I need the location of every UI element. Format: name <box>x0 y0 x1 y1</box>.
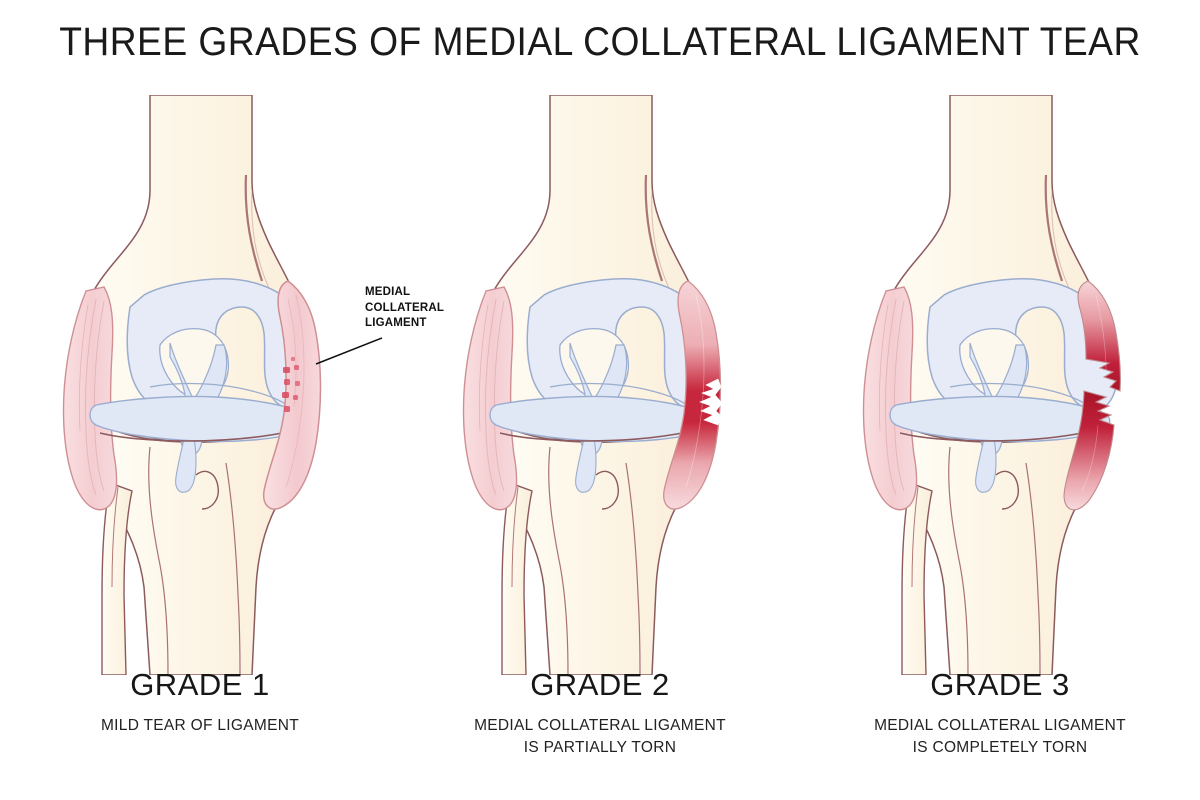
panel-grade-2: GRADE 2 MEDIAL COLLATERAL LIGAMENT IS PA… <box>400 95 800 695</box>
lateral-collateral-ligament <box>864 287 917 510</box>
fibula <box>902 483 932 675</box>
lateral-collateral-ligament <box>64 287 117 510</box>
grade-description-line: MEDIAL COLLATERAL LIGAMENT <box>800 715 1200 737</box>
callout-leader-line <box>310 330 390 375</box>
fibula <box>502 483 532 675</box>
poster-canvas: THREE GRADES OF MEDIAL COLLATERAL LIGAME… <box>0 0 1200 800</box>
grade-description-2: MEDIAL COLLATERAL LIGAMENT IS PARTIALLY … <box>400 715 800 760</box>
grade-description-line: IS COMPLETELY TORN <box>800 737 1200 759</box>
grade-description-line: MEDIAL COLLATERAL LIGAMENT <box>400 715 800 737</box>
knee-illustration-grade-1 <box>0 95 400 675</box>
grade-description-line: IS PARTIALLY TORN <box>400 737 800 759</box>
tibia <box>903 425 1094 675</box>
grade-description-3: MEDIAL COLLATERAL LIGAMENT IS COMPLETELY… <box>800 715 1200 760</box>
panel-grade-3: GRADE 3 MEDIAL COLLATERAL LIGAMENT IS CO… <box>800 95 1200 695</box>
grade-description-line: MILD TEAR OF LIGAMENT <box>0 715 400 737</box>
page-title: THREE GRADES OF MEDIAL COLLATERAL LIGAME… <box>42 20 1158 65</box>
tibia <box>503 425 694 675</box>
grade-label-3: GRADE 3 <box>800 667 1200 703</box>
knee-illustration-grade-2 <box>400 95 800 675</box>
tibia <box>103 425 294 675</box>
fibula <box>102 483 132 675</box>
panel-grade-1: GRADE 1 MILD TEAR OF LIGAMENT <box>0 95 400 695</box>
knee-illustration-grade-3 <box>800 95 1200 675</box>
grade-label-1: GRADE 1 <box>0 667 400 703</box>
grade-label-2: GRADE 2 <box>400 667 800 703</box>
grade-description-1: MILD TEAR OF LIGAMENT <box>0 715 400 737</box>
lateral-collateral-ligament <box>464 287 517 510</box>
